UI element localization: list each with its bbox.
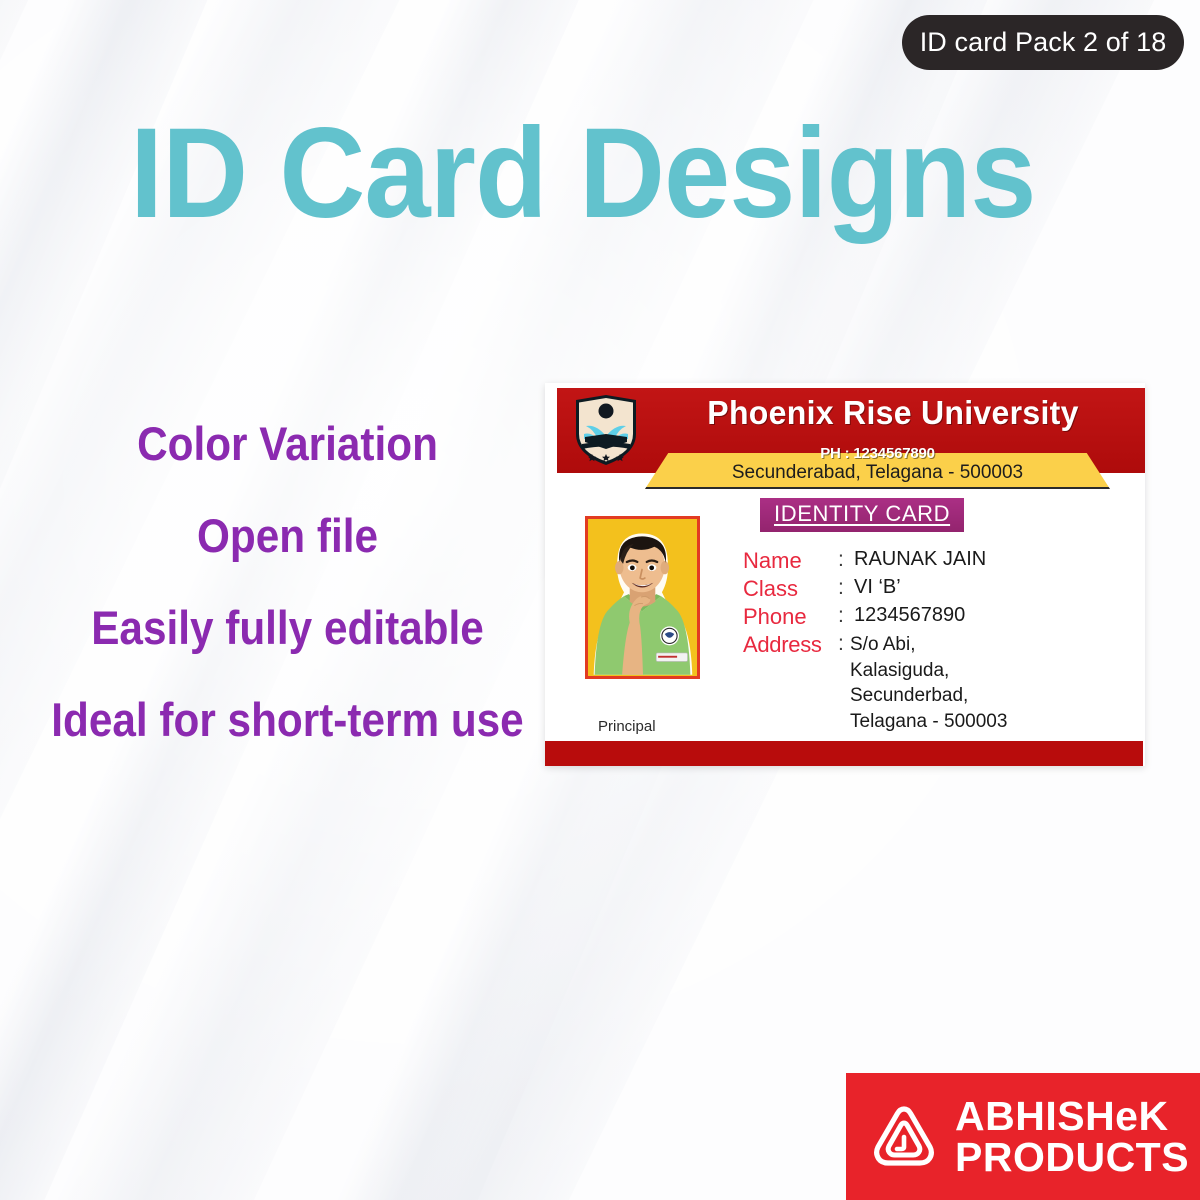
brand-line-2: PRODUCTS: [955, 1137, 1189, 1178]
detail-label: Address: [743, 632, 838, 658]
pack-badge: ID card Pack 2 of 18: [902, 15, 1184, 70]
brand-line-1: ABHISHeK: [955, 1096, 1189, 1137]
detail-value: VI ‘B’: [854, 576, 901, 600]
id-card-footer-bar: [545, 741, 1143, 766]
detail-value: S/o Abi, Kalasiguda, Secunderbad, Telaga…: [846, 632, 1007, 735]
feature-item: Easily fully editable: [29, 604, 547, 651]
detail-value: RAUNAK JAIN: [854, 548, 986, 572]
id-card-preview: Phoenix Rise University Secunderabad, Te…: [545, 383, 1145, 766]
detail-colon: :: [838, 576, 854, 601]
pack-badge-label: ID card Pack 2 of 18: [920, 27, 1167, 58]
detail-value: 1234567890: [854, 604, 965, 628]
feature-item: Open file: [29, 512, 547, 559]
address-band-text: Secunderabad, Telagana - 500003: [645, 462, 1110, 484]
id-card-details: Name : RAUNAK JAIN Class : VI ‘B’ Phone …: [743, 548, 1113, 736]
detail-colon: :: [838, 548, 854, 573]
abhishek-triangle-a-icon: [866, 1099, 942, 1175]
feature-list: Color Variation Open file Easily fully e…: [0, 420, 575, 743]
principal-label: Principal: [598, 718, 656, 735]
identity-card-chip-label: IDENTITY CARD: [774, 501, 950, 526]
detail-row: Class : VI ‘B’: [743, 576, 1113, 602]
detail-row: Phone : 1234567890: [743, 604, 1113, 630]
detail-colon: :: [838, 632, 846, 657]
university-name: Phoenix Rise University: [660, 396, 1126, 431]
detail-row: Name : RAUNAK JAIN: [743, 548, 1113, 574]
feature-item: Ideal for short-term use: [29, 696, 547, 743]
student-photo: [585, 516, 700, 679]
detail-colon: :: [838, 604, 854, 629]
shield-book-emblem-icon: [572, 394, 640, 466]
brand-logo: ABHISHeK PRODUCTS: [846, 1073, 1200, 1200]
identity-card-chip: IDENTITY CARD: [760, 498, 964, 532]
detail-row: Address : S/o Abi, Kalasiguda, Secunderb…: [743, 632, 1113, 735]
detail-label: Name: [743, 548, 838, 574]
detail-label: Class: [743, 576, 838, 602]
phone-line: PH : 1234567890: [645, 445, 1110, 462]
brand-text: ABHISHeK PRODUCTS: [955, 1096, 1189, 1178]
feature-item: Color Variation: [29, 420, 547, 467]
page-title: ID Card Designs: [130, 110, 1023, 238]
detail-label: Phone: [743, 604, 838, 630]
